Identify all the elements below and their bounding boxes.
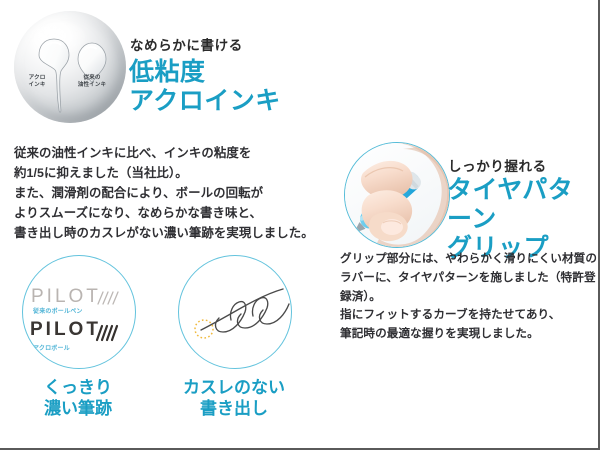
sample-circle-stroke-darkness: PILOT 従来のボールペン PILOT アクロボール <box>22 255 136 369</box>
drop-label-acro: アクロ インキ <box>22 75 52 89</box>
sample-caption-write-start: カスレのない 書き出し <box>178 377 290 419</box>
drop-label-conventional: 従来の 油性インキ <box>72 75 112 89</box>
product-feature-panel: アクロ インキ 従来の 油性インキ なめらかに書ける 低粘度 アクロインキ 従来… <box>0 0 600 450</box>
pilot-sample-label-acroball: アクロボール <box>33 343 70 352</box>
ink-headline: 低粘度 アクロインキ <box>129 58 281 116</box>
grip-photo <box>344 142 450 248</box>
sample-caption-stroke-darkness: くっきり 濃い筆跡 <box>22 377 134 419</box>
grip-kicker: しっかり握れる <box>448 155 547 175</box>
ink-drops-illustration <box>14 11 126 123</box>
pilot-sample-label-conventional: 従来のボールペン <box>33 306 83 315</box>
ink-viscosity-diagram: アクロ インキ 従来の 油性インキ <box>14 11 126 123</box>
pilot-sample-dark: PILOT <box>30 319 101 341</box>
grip-body-text: グリップ部分には、やわらかく滑りにくい材質の ラバーに、タイヤパターンを施しまし… <box>340 250 598 344</box>
scribble-illustration <box>179 256 291 368</box>
sample-circle-write-start <box>178 255 292 369</box>
pilot-sample-faint: PILOT <box>31 286 101 308</box>
ink-kicker: なめらかに書ける <box>130 34 243 54</box>
hand-holding-pen-illustration <box>345 143 449 247</box>
ink-body-text: 従来の油性インキに比べ、インキの粘度を 約1/5に抑えました（当社比）。 また、… <box>14 143 324 243</box>
